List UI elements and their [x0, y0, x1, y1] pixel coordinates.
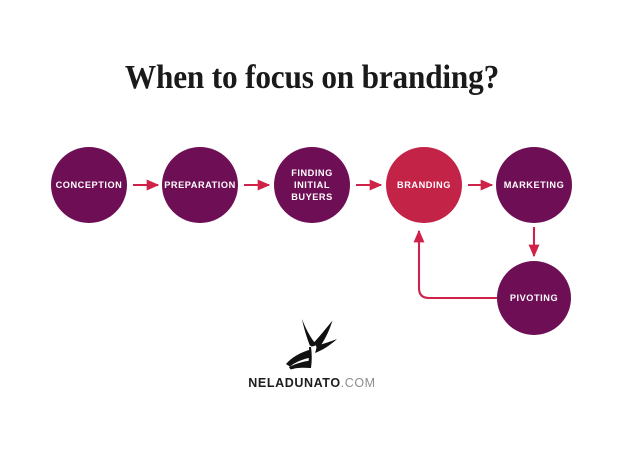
edge-pivoting-to-branding-feedback	[419, 231, 497, 298]
logo-tld-text: .COM	[341, 376, 376, 390]
slide-canvas: When to focus on branding? CONCEPTION PR…	[0, 0, 624, 457]
logo-brand-text: NELADUNATO	[248, 376, 340, 390]
node-preparation[interactable]: PREPARATION	[162, 147, 238, 223]
logo-wordmark: NELADUNATO.COM	[248, 376, 375, 390]
node-label-marketing: MARKETING	[500, 179, 569, 191]
node-label-finding-initial-buyers: FINDING INITIAL BUYERS	[287, 167, 337, 203]
node-finding-initial-buyers[interactable]: FINDING INITIAL BUYERS	[274, 147, 350, 223]
node-conception[interactable]: CONCEPTION	[51, 147, 127, 223]
node-label-branding: BRANDING	[393, 179, 455, 191]
site-logo[interactable]: NELADUNATO.COM	[0, 316, 624, 390]
node-label-pivoting: PIVOTING	[506, 292, 562, 304]
node-label-preparation: PREPARATION	[160, 179, 240, 191]
node-label-conception: CONCEPTION	[52, 179, 127, 191]
neladunato-star-mark-icon	[282, 316, 342, 372]
node-branding[interactable]: BRANDING	[386, 147, 462, 223]
node-marketing[interactable]: MARKETING	[496, 147, 572, 223]
